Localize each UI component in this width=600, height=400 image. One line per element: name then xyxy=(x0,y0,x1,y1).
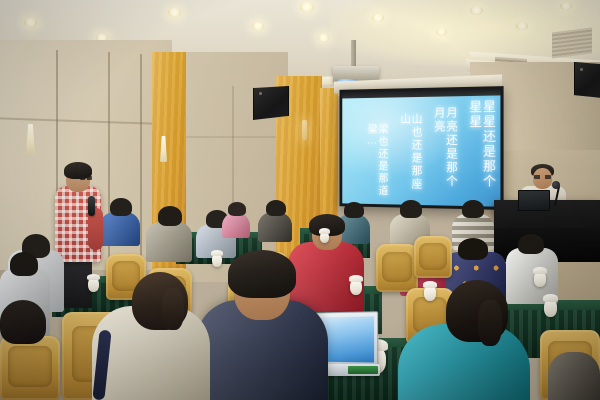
teacup-lid xyxy=(349,275,363,282)
teacup-lid xyxy=(423,281,437,288)
banquet-chair[interactable] xyxy=(376,244,418,292)
speaker-indicator xyxy=(259,92,262,95)
slide-line-4: 梁也还是那道梁… xyxy=(366,123,387,202)
projection-screen: 星星还是那个星星 月亮还是那个月亮 山也还是那座山 梁也还是那道梁… xyxy=(339,86,503,210)
attendee-hair xyxy=(10,252,38,276)
lidded-teacup xyxy=(544,300,557,317)
banquet-chair[interactable] xyxy=(414,236,452,278)
attendee-hair xyxy=(228,250,296,298)
recessed-downlight xyxy=(470,6,483,15)
lidded-teacup xyxy=(534,272,546,287)
attendee-hair xyxy=(462,200,484,218)
recessed-downlight xyxy=(372,14,384,22)
projector-mount xyxy=(351,40,356,68)
slide-line-2: 月亮还是那个月亮 xyxy=(433,106,458,199)
recessed-downlight xyxy=(24,18,37,27)
attendee-hair xyxy=(458,238,488,260)
microphone-icon xyxy=(552,181,560,189)
teacup-lid xyxy=(533,267,547,274)
glasses-icon xyxy=(80,176,92,180)
attendee-blue-shirt xyxy=(100,212,140,246)
attendee-ponytail xyxy=(478,300,502,346)
attendee-hair xyxy=(110,198,132,216)
lidded-teacup xyxy=(350,280,362,295)
wall-sconce xyxy=(302,120,307,140)
teacup-lid xyxy=(211,250,223,256)
glasses-icon xyxy=(534,175,551,179)
attendee-hair xyxy=(228,202,246,216)
attendee-hair xyxy=(344,202,364,218)
recessed-downlight xyxy=(252,22,264,30)
attendee-hair xyxy=(158,206,182,226)
air-vent xyxy=(552,28,592,59)
lidded-teacup xyxy=(88,278,99,292)
teacup-lid xyxy=(87,274,100,280)
recessed-downlight xyxy=(560,2,572,10)
presenter-laptop xyxy=(518,190,550,211)
banquet-chair[interactable] xyxy=(0,336,60,400)
wall-panel-seam xyxy=(186,136,278,138)
slide-line-3: 山也还是那座山 xyxy=(398,113,421,199)
lidded-teacup xyxy=(424,286,436,301)
attendee-darkgrey xyxy=(258,212,292,242)
recessed-downlight xyxy=(436,28,447,36)
attendee-grey-shirt xyxy=(146,222,192,262)
attendee-ponytail xyxy=(162,288,184,330)
attendee-right-edge xyxy=(548,352,600,400)
attendee-hair xyxy=(266,200,286,216)
teacup-lid xyxy=(319,228,330,234)
recessed-downlight xyxy=(318,34,329,42)
wall-panel-seam xyxy=(140,54,142,270)
conference-room-photo: 星星还是那个星星 月亮还是那个月亮 山也还是那座山 梁也还是那道梁… xyxy=(0,0,600,400)
attendee-hair xyxy=(0,300,46,344)
recessed-downlight xyxy=(300,2,314,12)
speaker-left xyxy=(253,86,289,120)
screen-top-bar xyxy=(342,89,500,98)
speaker-indicator xyxy=(580,68,583,71)
teacup-lid xyxy=(543,294,558,302)
handheld-microphone-icon xyxy=(88,196,95,216)
recessed-downlight xyxy=(516,22,528,30)
slide-line-1: 星星还是那个星星 xyxy=(467,100,494,201)
attendee-hair xyxy=(518,234,544,254)
recessed-downlight xyxy=(168,8,181,17)
presenter-laptop-screen xyxy=(521,193,547,207)
laptop-side-device xyxy=(348,366,378,374)
speaker-right xyxy=(574,62,600,98)
attendee-hair xyxy=(400,200,422,218)
screen-surface: 星星还是那个星星 月亮还是那个月亮 山也还是那座山 梁也还是那道梁… xyxy=(342,89,500,207)
